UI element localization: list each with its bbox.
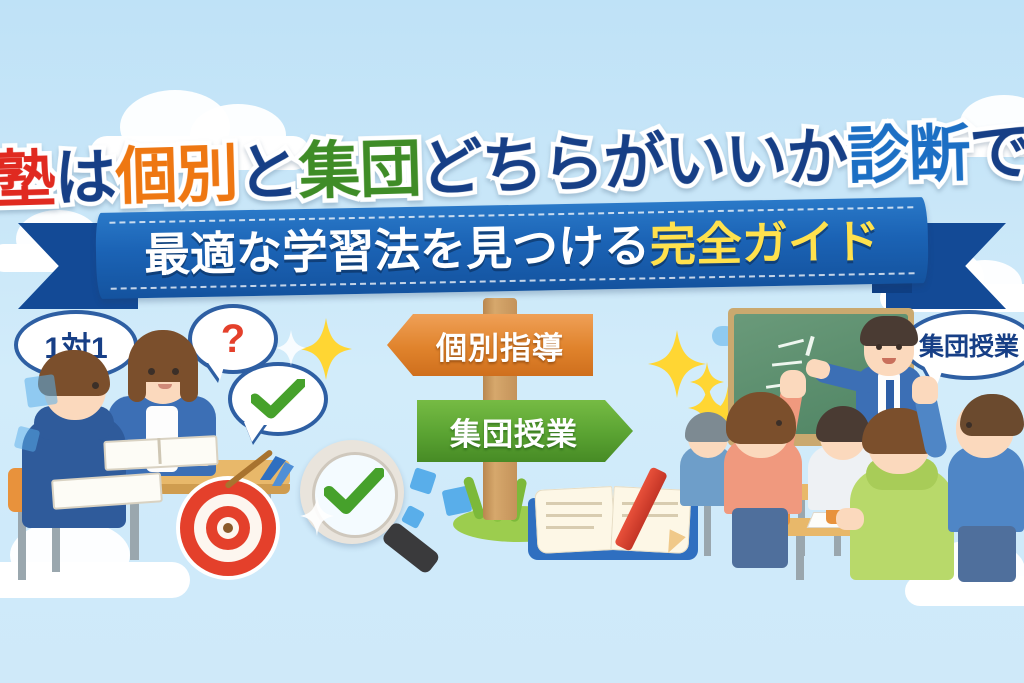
student-raised-hand (912, 376, 938, 404)
check-icon (251, 379, 305, 419)
desk-leg (796, 536, 804, 580)
sign-shudan-jugyo-label: 集団授業 (450, 409, 600, 454)
tutor-eye (148, 368, 155, 375)
title-segment-3: と (237, 138, 300, 209)
title-segment-1: は (54, 143, 117, 214)
student-eye (776, 420, 782, 426)
student-hand (836, 508, 864, 530)
teacher-hair (860, 316, 918, 346)
tutor-hair-side (180, 358, 198, 402)
student-eye (92, 382, 99, 389)
ribbon-segment-0: 最適な学習法を見つける (144, 219, 651, 281)
open-textbook (51, 472, 163, 510)
title-segment-7: で (968, 118, 1024, 189)
confetti-square (24, 374, 58, 408)
question-mark-icon: ? (221, 317, 245, 362)
teacher-eye (876, 344, 882, 350)
teacher-tie (886, 380, 894, 410)
sign-kobetsu-shido: 個別指導 (387, 314, 593, 376)
ribbon-body: 最適な学習法を見つける完全ガイド (95, 197, 928, 299)
student-eye (966, 422, 972, 428)
sign-shudan-jugyo: 集団授業 (417, 400, 633, 462)
title-segment-2: 個別 (115, 140, 239, 212)
sparkle-icon (276, 330, 306, 371)
student-hair (685, 412, 731, 442)
student-raised-hand (780, 370, 806, 398)
book-page-left (534, 486, 615, 554)
sparkle-icon (300, 318, 352, 385)
hero-illustration: 塾は個別と集団どちらがいいか診断で 最適な学習法を見つける完全ガイド 1対1 ? (0, 0, 1024, 683)
title-segment-4: 集団 (298, 135, 422, 207)
student-leg (958, 526, 1016, 582)
title-segment-5: どちらがいいか (420, 123, 849, 204)
speech-bubble-group-class-text: 集団授業 (919, 327, 1019, 363)
teacher-eye (896, 344, 902, 350)
student-body (948, 446, 1024, 532)
open-book-with-pencil (528, 470, 698, 566)
speech-bubble-group-class: 集団授業 (902, 310, 1024, 380)
scene-group-class: 集団授業 (680, 300, 1024, 580)
tutor-hair-side (128, 358, 146, 402)
title-segment-6: 診断 (846, 119, 970, 191)
desk-leg (704, 500, 711, 556)
tutor-eye (172, 368, 179, 375)
student-leg (732, 508, 788, 568)
sign-kobetsu-shido-label: 個別指導 (416, 323, 564, 368)
ribbon-segment-1: 完全ガイド (649, 215, 880, 271)
student-hair (960, 394, 1024, 436)
speech-bubble-question-tail (206, 360, 226, 380)
speech-bubble-check-tail (244, 422, 266, 442)
sparkle-icon (300, 496, 334, 541)
